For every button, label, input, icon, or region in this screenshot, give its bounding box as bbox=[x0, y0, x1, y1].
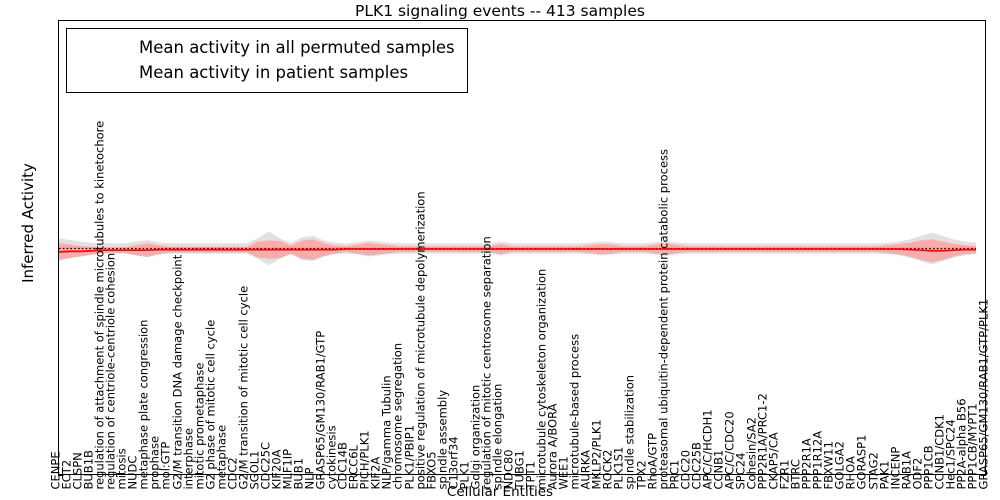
x-tick-label: proteasomal ubiquitin-dependent protein … bbox=[658, 149, 670, 490]
legend-item-permuted: Mean activity in all permuted samples bbox=[77, 35, 455, 60]
legend: Mean activity in all permuted samples Me… bbox=[66, 28, 468, 93]
figure-canvas: PLK1 signaling events -- 413 samples Inf… bbox=[0, 0, 1000, 500]
series-band-patient bbox=[59, 239, 976, 262]
y-axis-label: Inferred Activity bbox=[19, 98, 37, 348]
legend-label-patient: Mean activity in patient samples bbox=[139, 63, 408, 82]
legend-label-permuted: Mean activity in all permuted samples bbox=[139, 38, 455, 57]
x-tick-label: GRASP65/GM130/RAB1/GTP/PLK1 bbox=[979, 299, 991, 490]
legend-item-patient: Mean activity in patient samples bbox=[77, 60, 455, 85]
x-tick-label: positive regulation of microtubule depol… bbox=[415, 191, 427, 489]
chart-title: PLK1 signaling events -- 413 samples bbox=[0, 2, 1000, 20]
